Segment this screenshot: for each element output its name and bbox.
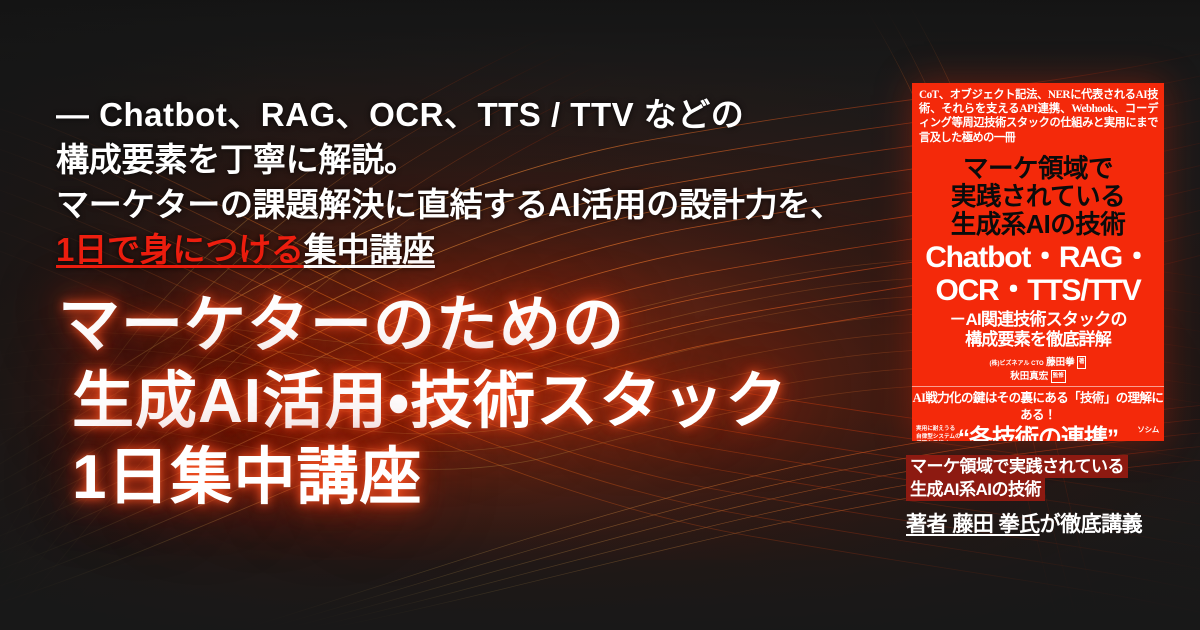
book-supervisor-name: 秋田真宏 bbox=[1010, 370, 1048, 381]
book-top-blurb: CoT、オブジェクト記法、NERに代表されるAI技術、それらを支えるAPI連携、… bbox=[912, 83, 1164, 148]
book-author-role: 著 bbox=[1077, 356, 1087, 369]
headline-line-3: 1日集中講座 bbox=[58, 440, 918, 516]
caption-author-underlined: 著者 藤田 拳氏 bbox=[906, 513, 1040, 536]
lead-line-3: マーケターの課題解決に直結するAI活用の設計力を、 bbox=[56, 182, 901, 227]
book-title-black-line-3: 生成系AIの技術 bbox=[912, 211, 1164, 239]
caption-highlight-line-1: マーケ領域で実践されている bbox=[906, 455, 1128, 478]
main-headline: マーケターのための 生成AI活用・技術スタック 1日集中講座 bbox=[58, 288, 918, 516]
book-publisher-logo: ソシム bbox=[1137, 424, 1159, 435]
lead-line-2: 構成要素を丁寧に解説。 bbox=[56, 137, 901, 182]
book-title-white-line-1: Chatbot・RAG・ bbox=[912, 241, 1164, 274]
lead-highlight-red: 1日で身につける bbox=[56, 231, 304, 268]
book-bottom-band: AI戦力化の鍵はその裏にある「技術」の理解にある！ 実用に耐えうる 自律型システ… bbox=[912, 386, 1164, 441]
promo-banner: — Chatbot、RAG、OCR、TTS / TTV などの 構成要素を丁寧に… bbox=[0, 0, 1200, 630]
caption-author-tail: が徹底講義 bbox=[1040, 513, 1143, 536]
book-caption: マーケ領域で実践されている 生成AI系AIの技術 著者 藤田 拳氏が徹底講義 bbox=[906, 455, 1186, 538]
caption-highlight-text-1: マーケ領域で実践されている bbox=[906, 455, 1128, 478]
caption-author-line: 著者 藤田 拳氏が徹底講義 bbox=[906, 512, 1186, 538]
lead-line-4: 1日で身につける集中講座 bbox=[56, 227, 901, 272]
book-title-black-line-1: マーケ領域で bbox=[912, 155, 1164, 183]
book-band-mini-line-2: 自律型システムの bbox=[916, 434, 961, 441]
caption-highlight-line-2: 生成AI系AIの技術 bbox=[906, 478, 1045, 501]
book-band-headline: AI戦力化の鍵はその裏にある「技術」の理解にある！ bbox=[912, 387, 1164, 424]
book-title-black: マーケ領域で 実践されている 生成系AIの技術 bbox=[912, 155, 1164, 239]
book-title-white-line-2: OCR・TTS/TTV bbox=[912, 274, 1164, 307]
book-supervisor-role: 監修 bbox=[1051, 370, 1066, 383]
book-author-row: (株)ビズネアル CTO 藤田拳 著 bbox=[912, 356, 1164, 370]
book-author-credits: (株)ビズネアル CTO 藤田拳 著 秋田真宏 監修 bbox=[912, 356, 1164, 383]
book-title-black-line-2: 実践されている bbox=[912, 183, 1164, 211]
book-band-mini-line-1: 実用に耐えうる bbox=[916, 426, 961, 434]
book-subtitle: －AI関連技術スタックの 構成要素を徹底詳解 bbox=[912, 310, 1164, 350]
lead-paragraph: — Chatbot、RAG、OCR、TTS / TTV などの 構成要素を丁寧に… bbox=[56, 92, 901, 272]
headline-line-2: 生成AI活用・技術スタック bbox=[58, 364, 918, 440]
book-band-mini-text: 実用に耐えうる 自律型システムの 構築を目指す bbox=[916, 426, 961, 441]
lead-highlight-white: 集中講座 bbox=[304, 231, 435, 268]
book-supervisor-row: 秋田真宏 監修 bbox=[912, 370, 1164, 383]
headline-line-1: マーケターのための bbox=[58, 288, 918, 364]
book-subtitle-line-2: 構成要素を徹底詳解 bbox=[912, 330, 1164, 350]
book-band-keyword: “各技術の連携” bbox=[958, 424, 1118, 441]
book-author-company: (株)ビズネアル CTO bbox=[990, 361, 1044, 367]
book-band-tail: について bbox=[1113, 436, 1161, 441]
book-band-row: 実用に耐えうる 自律型システムの 構築を目指す “各技術の連携” について ソシ… bbox=[912, 424, 1164, 441]
book-subtitle-line-1: －AI関連技術スタックの bbox=[912, 310, 1164, 330]
book-author-name: 藤田拳 bbox=[1046, 357, 1075, 368]
book-title-white: Chatbot・RAG・ OCR・TTS/TTV bbox=[912, 241, 1164, 307]
lead-line-1: — Chatbot、RAG、OCR、TTS / TTV などの bbox=[56, 92, 901, 137]
caption-highlight-text-2: 生成AI系AIの技術 bbox=[906, 478, 1045, 501]
book-cover: CoT、オブジェクト記法、NERに代表されるAI技術、それらを支えるAPI連携、… bbox=[912, 83, 1164, 441]
